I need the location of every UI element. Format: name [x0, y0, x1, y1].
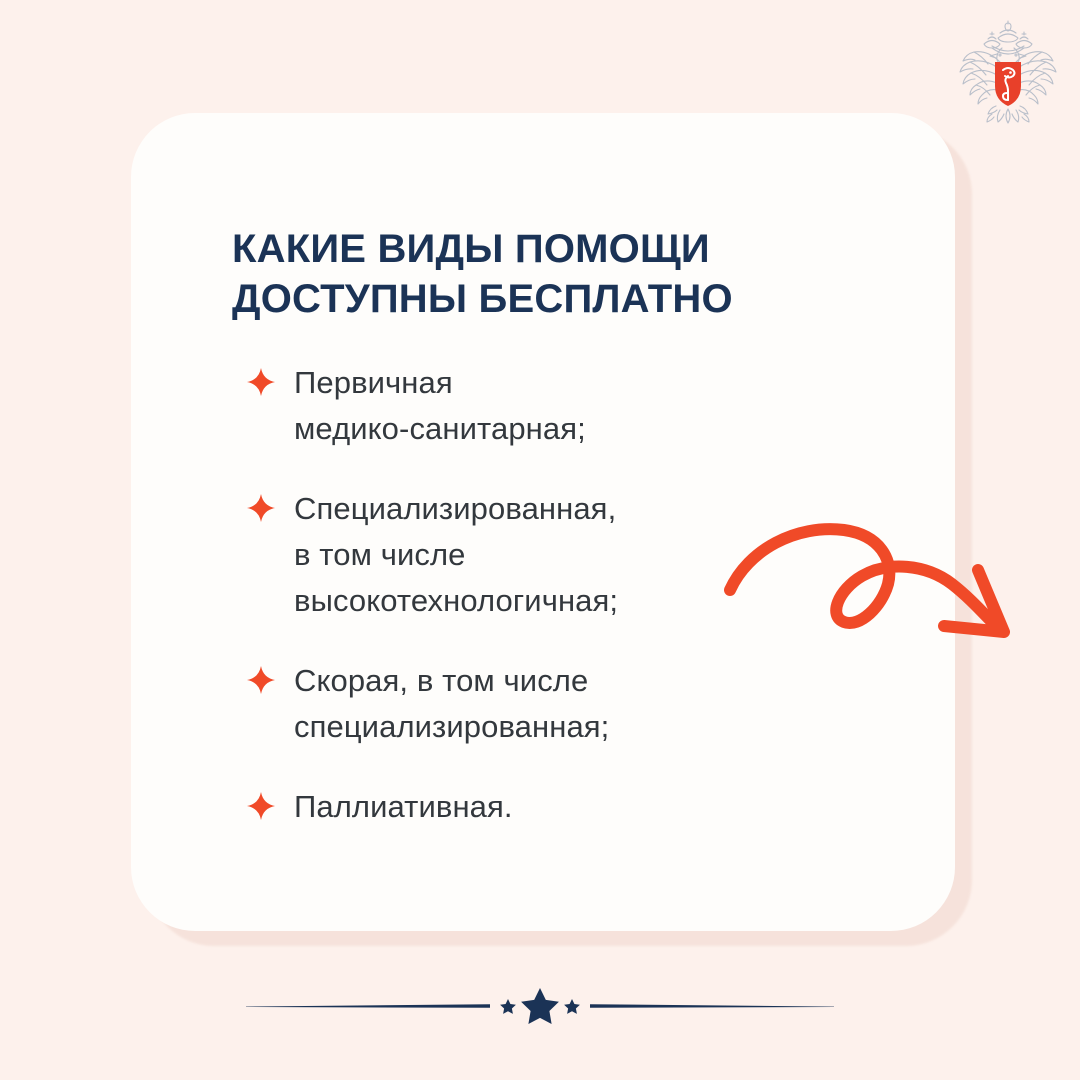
page-title: КАКИЕ ВИДЫ ПОМОЩИ ДОСТУПНЫ БЕСПЛАТНО [232, 224, 872, 324]
list-item-text: Первичная медико-санитарная; [294, 360, 586, 452]
star-divider-ornament [240, 982, 840, 1030]
list-item: Скорая, в том числе специализированная; [246, 658, 846, 750]
list-item: Первичная медико-санитарная; [246, 360, 846, 452]
four-point-star-icon [246, 665, 276, 695]
list-item-text: Специализированная, в том числе высокоте… [294, 486, 618, 624]
page-title-line-1: КАКИЕ ВИДЫ ПОМОЩИ [232, 224, 872, 274]
list-item-text: Скорая, в том числе специализированная; [294, 658, 609, 750]
list-item: Специализированная, в том числе высокоте… [246, 486, 846, 624]
list-item: Паллиативная. [246, 784, 846, 830]
roszdravnadzor-emblem [948, 14, 1068, 134]
four-point-star-icon [246, 367, 276, 397]
poster-canvas: КАКИЕ ВИДЫ ПОМОЩИ ДОСТУПНЫ БЕСПЛАТНО Пер… [0, 0, 1080, 1080]
four-point-star-icon [246, 493, 276, 523]
page-title-line-2: ДОСТУПНЫ БЕСПЛАТНО [232, 274, 872, 324]
list-item-text: Паллиативная. [294, 784, 513, 830]
four-point-star-icon [246, 791, 276, 821]
aid-types-list: Первичная медико-санитарная; Специализир… [246, 360, 846, 830]
